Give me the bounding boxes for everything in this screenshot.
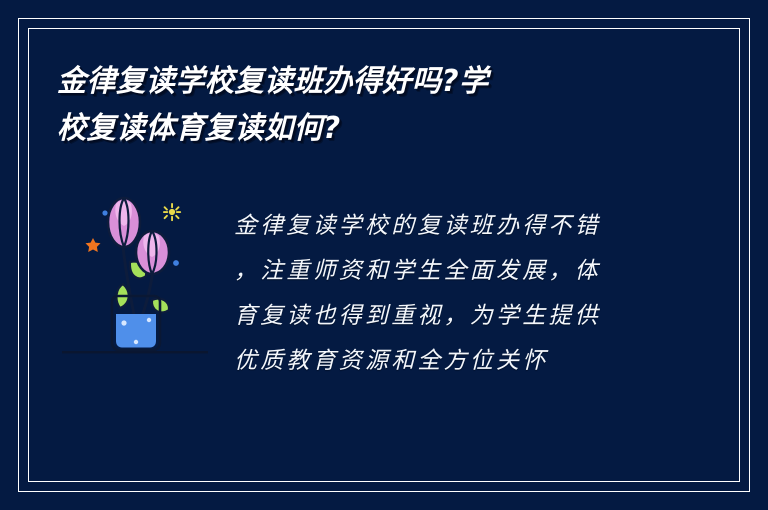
page-title: 金律复读学校复读班办得好吗?学 校复读体育复读如何? [57,58,697,152]
star-orange-icon [86,238,101,252]
sparkle-yellow-icon [163,203,181,221]
poster-canvas: 金律复读学校复读班办得好吗?学 校复读体育复读如何? [0,0,768,510]
tulip-flower-right-icon [136,231,169,274]
title-line-2: 校复读体育复读如何? [57,105,678,152]
body-paragraph: 金律复读学校的复读班办得不错 ，注重师资和学生全面发展，体 育复读也得到重视，为… [234,204,654,384]
tulips-in-jar-illustration [60,190,210,370]
dot-blue-lower-icon [173,260,179,266]
body-line-3: 育复读也得到重视，为学生提供 [234,294,654,339]
body-line-1: 金律复读学校的复读班办得不错 [234,204,654,249]
body-line-2: ，注重师资和学生全面发展，体 [234,249,654,294]
ground-line-icon [62,351,208,353]
body-line-4: 优质教育资源和全方位关怀 [234,339,654,384]
title-line-1: 金律复读学校复读班办得好吗?学 [57,58,678,105]
dot-blue-upper-icon [102,210,107,215]
tulip-flower-left-icon [108,198,140,247]
